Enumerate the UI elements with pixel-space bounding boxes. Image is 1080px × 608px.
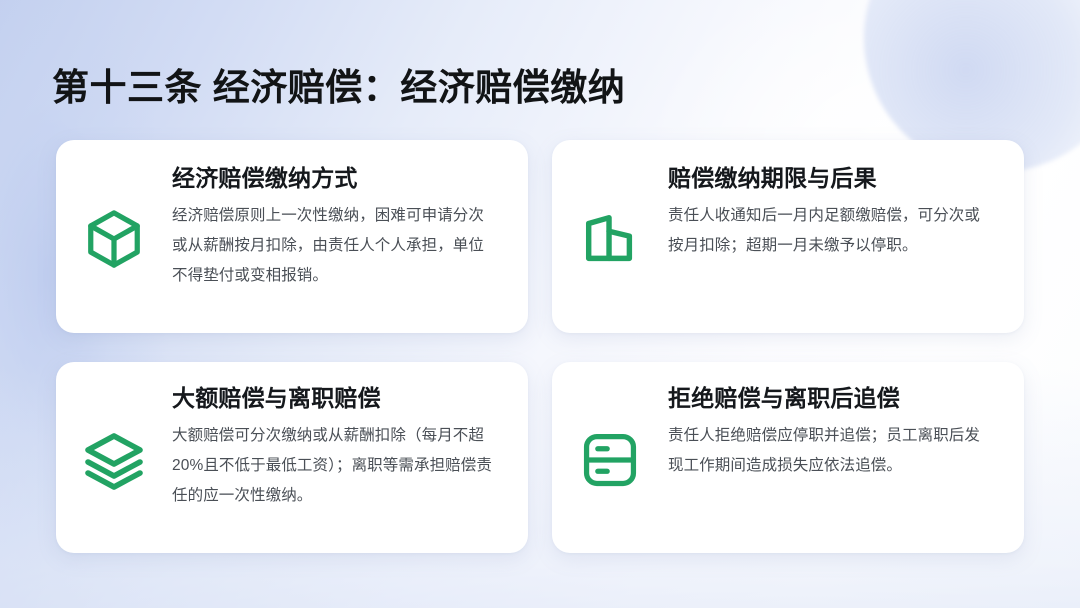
info-card-refusal-recovery[interactable]: 拒绝赔偿与离职后追偿 责任人拒绝赔偿应停职并追偿；员工离职后发现工作期间造成损失… — [552, 362, 1024, 553]
card-title: 赔偿缴纳期限与后果 — [668, 164, 994, 194]
info-card-payment-method[interactable]: 经济赔偿缴纳方式 经济赔偿原则上一次性缴纳，困难可申请分次或从薪酬按月扣除，由责… — [56, 140, 528, 333]
buildings-icon — [552, 204, 668, 270]
info-card-payment-deadline[interactable]: 赔偿缴纳期限与后果 责任人收通知后一月内足额缴赔偿，可分次或按月扣除；超期一月未… — [552, 140, 1024, 333]
card-title: 拒绝赔偿与离职后追偿 — [668, 384, 994, 414]
card-description: 责任人拒绝赔偿应停职并追偿；员工离职后发现工作期间造成损失应依法追偿。 — [668, 421, 994, 481]
card-body: 拒绝赔偿与离职后追偿 责任人拒绝赔偿应停职并追偿；员工离职后发现工作期间造成损失… — [668, 362, 1024, 499]
card-grid: 经济赔偿缴纳方式 经济赔偿原则上一次性缴纳，困难可申请分次或从薪酬按月扣除，由责… — [56, 140, 1024, 553]
layers-icon — [56, 424, 172, 492]
server-icon — [552, 426, 668, 490]
card-title: 经济赔偿缴纳方式 — [172, 164, 498, 194]
page-title: 第十三条 经济赔偿：经济赔偿缴纳 — [52, 66, 625, 110]
card-body: 大额赔偿与离职赔偿 大额赔偿可分次缴纳或从薪酬扣除（每月不超20%且不低于最低工… — [172, 362, 528, 529]
cube-icon — [56, 204, 172, 270]
card-body: 赔偿缴纳期限与后果 责任人收通知后一月内足额缴赔偿，可分次或按月扣除；超期一月未… — [668, 140, 1024, 279]
card-title: 大额赔偿与离职赔偿 — [172, 384, 498, 414]
card-description: 经济赔偿原则上一次性缴纳，困难可申请分次或从薪酬按月扣除，由责任人个人承担，单位… — [172, 201, 498, 291]
info-card-large-amount[interactable]: 大额赔偿与离职赔偿 大额赔偿可分次缴纳或从薪酬扣除（每月不超20%且不低于最低工… — [56, 362, 528, 553]
card-body: 经济赔偿缴纳方式 经济赔偿原则上一次性缴纳，困难可申请分次或从薪酬按月扣除，由责… — [172, 140, 528, 309]
card-description: 大额赔偿可分次缴纳或从薪酬扣除（每月不超20%且不低于最低工资）；离职等需承担赔… — [172, 421, 498, 511]
slide-canvas: 第十三条 经济赔偿：经济赔偿缴纳 经济赔偿缴纳方式 经济赔偿原则上一次性缴纳，困… — [0, 0, 1080, 608]
card-description: 责任人收通知后一月内足额缴赔偿，可分次或按月扣除；超期一月未缴予以停职。 — [668, 201, 994, 261]
